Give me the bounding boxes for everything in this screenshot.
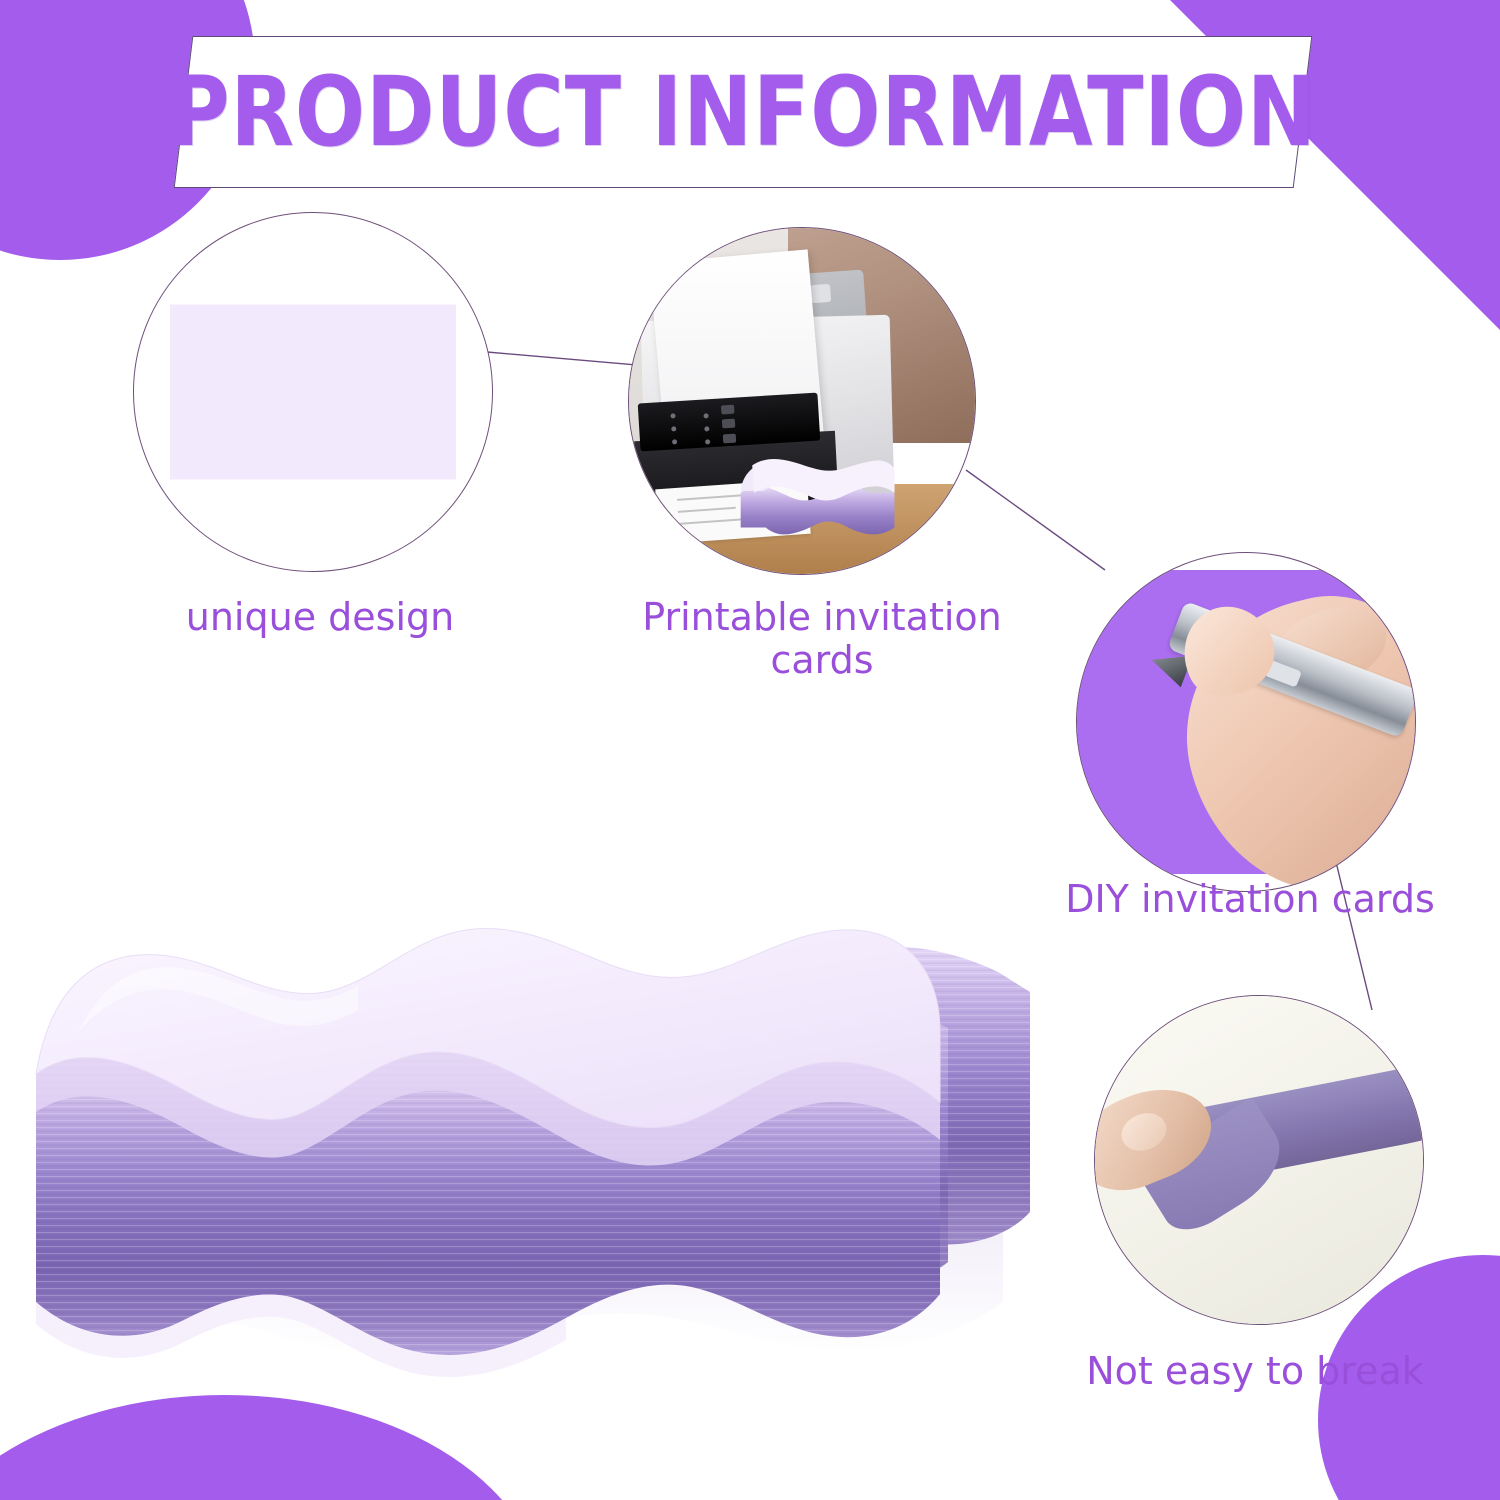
mini-card-stack-icon [733, 449, 906, 549]
callout-not-easy-to-break[interactable] [1094, 995, 1424, 1325]
hero-card-stack [18, 742, 1058, 1422]
callout-printable-invitation-cards[interactable] [628, 227, 976, 575]
callout-label-diy-invitation-cards: DIY invitation cards [1000, 878, 1500, 921]
callout-label-unique-design: unique design [40, 596, 600, 639]
bending-card-photo [1095, 996, 1423, 1324]
callout-diy-invitation-cards[interactable] [1076, 552, 1416, 892]
page-title: PRODUCT INFORMATION [261, 36, 1224, 188]
bracket-card-silhouette-icon [170, 305, 456, 480]
callout-label-not-easy-to-break: Not easy to break [1010, 1350, 1500, 1393]
callout-label-printable-invitation-cards: Printable invitation cards [592, 596, 1052, 681]
printer-photo [629, 228, 975, 574]
callout-unique-design[interactable] [133, 212, 493, 572]
hand-with-stylus-photo [1077, 553, 1415, 891]
infographic-canvas: PRODUCT INFORMATION unique design [0, 0, 1500, 1500]
